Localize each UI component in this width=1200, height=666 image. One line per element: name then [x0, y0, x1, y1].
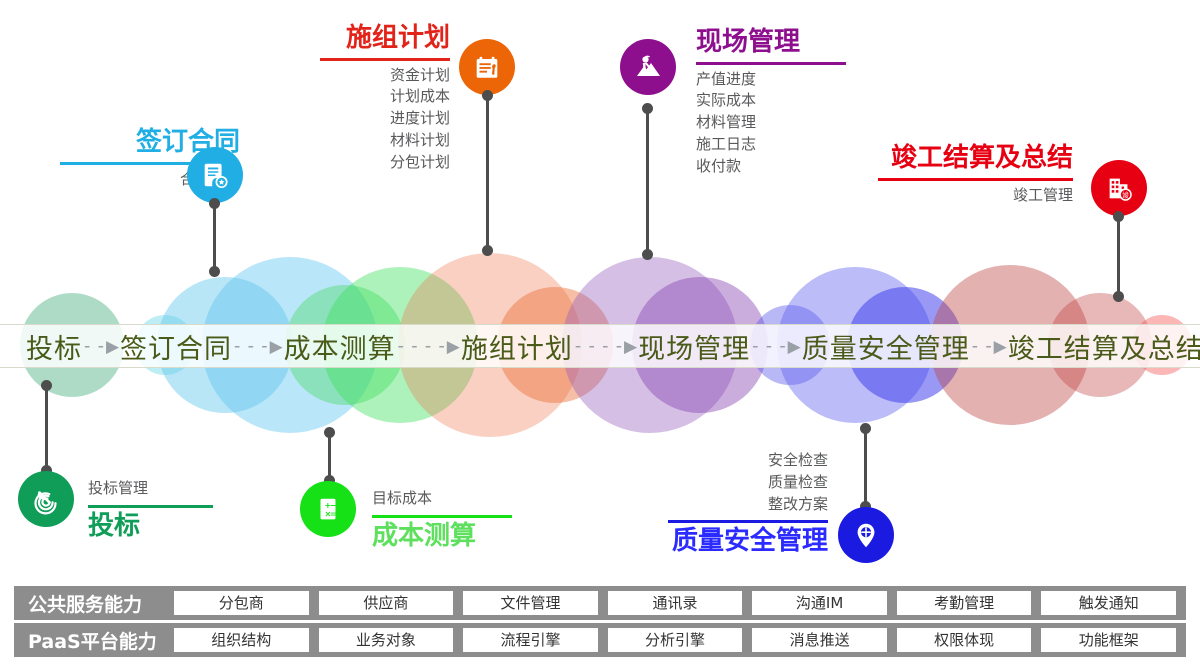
svg-text:=: = — [330, 510, 337, 519]
connector-dot-contract-bottom — [209, 266, 220, 277]
timeline-stage-6[interactable]: 竣工结算及总结 — [1008, 327, 1200, 366]
callout-tender-rule — [88, 505, 213, 508]
connector-dot-tender-top — [41, 380, 52, 391]
callout-quality[interactable]: 安全检查 质量检查 整改方案 质量安全管理 — [668, 450, 828, 557]
callout-site[interactable]: 现场管理 产值进度 实际成本 材料管理 施工日志 收付款 — [696, 28, 846, 177]
worker-icon[interactable] — [620, 39, 676, 95]
connector-plan — [486, 95, 489, 250]
connector-dot-plan-top — [482, 90, 493, 101]
capability-cell[interactable]: 流程引擎 — [463, 628, 598, 652]
clipboard-wrench-icon[interactable] — [459, 39, 515, 95]
callout-site-item-3: 施工日志 — [696, 134, 846, 156]
callout-cost-title: 成本测算 — [372, 522, 512, 552]
timeline-stage-5[interactable]: 质量安全管理 — [802, 327, 970, 366]
capability-cell[interactable]: 文件管理 — [463, 591, 598, 615]
connector-dot-completion-bottom — [1113, 291, 1124, 302]
callout-quality-item-1: 质量检查 — [668, 472, 828, 494]
capability-cell[interactable]: 通讯录 — [608, 591, 743, 615]
capability-cell[interactable]: 业务对象 — [319, 628, 454, 652]
callout-tender-title: 投标 — [88, 512, 213, 542]
callout-quality-rule — [668, 520, 828, 523]
building-stamp-icon[interactable]: 竣 — [1091, 160, 1147, 216]
capability-row-public-label: 公共服务能力 — [14, 590, 174, 617]
location-pin-icon[interactable] — [838, 507, 894, 563]
callout-plan-title: 施组计划 — [320, 24, 450, 53]
svg-text:竣: 竣 — [1122, 190, 1129, 199]
callout-quality-item-0: 安全检查 — [668, 450, 828, 472]
callout-tender-sub: 投标管理 — [88, 478, 213, 500]
capability-cell[interactable]: 分包商 — [174, 591, 309, 615]
capability-row-paas: PaaS平台能力 组织结构业务对象流程引擎分析引擎消息推送权限体现功能框架 — [14, 623, 1186, 657]
connector-dot-cost-top — [324, 427, 335, 438]
timeline-arrow-0: - -▶ — [84, 337, 118, 356]
capability-cell[interactable]: 权限体现 — [897, 628, 1032, 652]
timeline-arrow-3: - - - -▶ — [575, 337, 636, 356]
infographic-stage: 投标- -▶签订合同- - -▶成本测算- - - -▶施组计划- - - -▶… — [0, 0, 1200, 666]
capability-table: 公共服务能力 分包商供应商文件管理通讯录沟通IM考勤管理触发通知 PaaS平台能… — [14, 586, 1186, 660]
callout-cost[interactable]: 目标成本 成本测算 — [372, 488, 512, 552]
connector-dot-quality-top — [860, 423, 871, 434]
target-icon[interactable] — [18, 471, 74, 527]
callout-site-item-0: 产值进度 — [696, 69, 846, 91]
callout-tender[interactable]: 投标管理 投标 — [88, 478, 213, 542]
capability-row-paas-cells: 组织结构业务对象流程引擎分析引擎消息推送权限体现功能框架 — [174, 628, 1186, 652]
callout-cost-rule — [372, 515, 512, 518]
callout-completion-title: 竣工结算及总结 — [878, 144, 1073, 173]
capability-cell[interactable]: 组织结构 — [174, 628, 309, 652]
capability-row-public-cells: 分包商供应商文件管理通讯录沟通IM考勤管理触发通知 — [174, 591, 1186, 615]
callout-plan[interactable]: 施组计划 资金计划 计划成本 进度计划 材料计划 分包计划 — [320, 24, 450, 173]
callout-plan-item-2: 进度计划 — [320, 108, 450, 130]
capability-row-paas-label: PaaS平台能力 — [14, 627, 174, 654]
timeline-stage-0[interactable]: 投标 — [26, 327, 82, 366]
callout-site-item-1: 实际成本 — [696, 90, 846, 112]
callout-site-title: 现场管理 — [696, 28, 846, 57]
contract-document-icon[interactable] — [187, 147, 243, 203]
callout-quality-title: 质量安全管理 — [668, 527, 828, 557]
callout-plan-item-4: 分包计划 — [320, 152, 450, 174]
capability-row-public: 公共服务能力 分包商供应商文件管理通讯录沟通IM考勤管理触发通知 — [14, 586, 1186, 620]
callout-quality-item-2: 整改方案 — [668, 494, 828, 516]
timeline-arrow-1: - - -▶ — [234, 337, 282, 356]
connector-dot-site-top — [642, 103, 653, 114]
callout-site-item-4: 收付款 — [696, 156, 846, 178]
capability-cell[interactable]: 触发通知 — [1041, 591, 1176, 615]
connector-cost — [328, 432, 331, 480]
connector-tender — [45, 385, 48, 470]
timeline-stage-1[interactable]: 签订合同 — [120, 327, 232, 366]
connector-site — [646, 108, 649, 254]
capability-cell[interactable]: 功能框架 — [1041, 628, 1176, 652]
timeline-stage-4[interactable]: 现场管理 — [638, 327, 750, 366]
callout-plan-rule — [320, 58, 450, 61]
timeline-arrow-2: - - - -▶ — [398, 337, 459, 356]
connector-dot-site-bottom — [642, 249, 653, 260]
capability-cell[interactable]: 消息推送 — [752, 628, 887, 652]
calculator-icon[interactable]: + − × = — [300, 481, 356, 537]
timeline-arrow-4: - - -▶ — [752, 337, 800, 356]
connector-completion — [1117, 216, 1120, 296]
connector-dot-contract-top — [209, 198, 220, 209]
timeline-stages: 投标- -▶签订合同- - -▶成本测算- - - -▶施组计划- - - -▶… — [0, 324, 1200, 368]
connector-dot-plan-bottom — [482, 245, 493, 256]
capability-cell[interactable]: 供应商 — [319, 591, 454, 615]
timeline-arrow-5: - -▶ — [972, 337, 1006, 356]
timeline-stage-2[interactable]: 成本测算 — [284, 327, 396, 366]
callout-plan-item-0: 资金计划 — [320, 65, 450, 87]
connector-quality — [864, 428, 867, 506]
timeline-stage-3[interactable]: 施组计划 — [461, 327, 573, 366]
callout-site-rule — [696, 62, 846, 65]
callout-site-item-2: 材料管理 — [696, 112, 846, 134]
capability-cell[interactable]: 分析引擎 — [608, 628, 743, 652]
callout-plan-item-3: 材料计划 — [320, 130, 450, 152]
connector-contract — [213, 203, 216, 271]
connector-dot-completion-top — [1113, 211, 1124, 222]
capability-cell[interactable]: 沟通IM — [752, 591, 887, 615]
callout-cost-sub: 目标成本 — [372, 488, 512, 510]
capability-cell[interactable]: 考勤管理 — [897, 591, 1032, 615]
callout-completion-rule — [878, 178, 1073, 181]
callout-plan-item-1: 计划成本 — [320, 86, 450, 108]
callout-completion[interactable]: 竣工结算及总结 竣工管理 — [878, 144, 1073, 206]
callout-completion-sub: 竣工管理 — [878, 185, 1073, 207]
